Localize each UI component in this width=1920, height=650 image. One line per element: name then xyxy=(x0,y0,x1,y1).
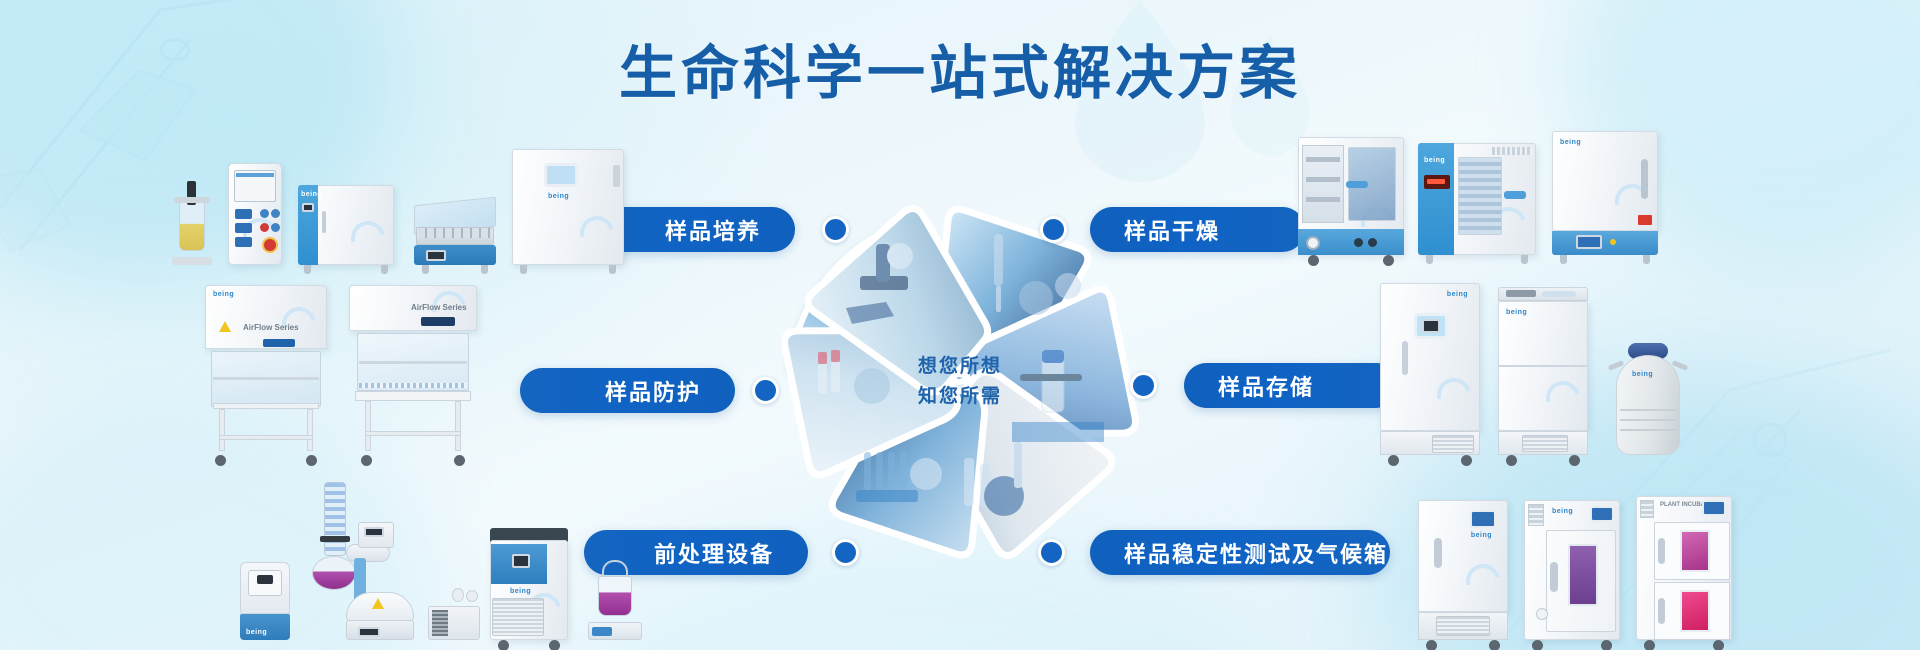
brand-logo: being xyxy=(1632,371,1653,378)
series-label: AirFlow Series xyxy=(411,303,467,312)
equipment-group-pretreatment: being being xyxy=(240,500,646,640)
ultra-low-freezer: being xyxy=(1380,283,1480,455)
brand-logo: being xyxy=(1424,157,1445,164)
category-pill-label: 样品存储 xyxy=(1218,370,1314,402)
orbital-shaker xyxy=(412,203,498,265)
equipment-group-drying: being being xyxy=(1298,125,1658,255)
equipment-group-protection: being AirFlow Series AirFlow Series xyxy=(205,275,477,455)
brand-logo: being xyxy=(213,291,234,298)
page-title: 生命科学一站式解决方案 xyxy=(0,38,1920,110)
centrifuge: being xyxy=(240,562,290,640)
lab-refrigerator: being xyxy=(1498,287,1588,455)
bioreactor-controller xyxy=(228,163,282,265)
category-pill-label: 样品干燥 xyxy=(1124,214,1220,246)
connector-dot-sample-protection[interactable] xyxy=(752,377,779,404)
category-pill-sample-protection[interactable]: 样品防护 xyxy=(520,368,735,413)
equipment-group-storage: being being being xyxy=(1380,280,1686,455)
category-pill-label: 样品培养 xyxy=(665,214,761,246)
category-pill-sample-drying[interactable]: 样品干燥 xyxy=(1090,207,1305,252)
equipment-group-cultivation: being being xyxy=(170,140,624,265)
forced-air-oven: being xyxy=(1418,143,1536,255)
brand-logo: being xyxy=(510,588,531,595)
category-pill-label: 前处理设备 xyxy=(654,537,774,569)
magnetic-stirrer xyxy=(584,566,646,640)
brand-logo: being xyxy=(301,191,322,198)
equipment-group-stability: being being PLANT INCUBATOR xyxy=(1418,495,1732,640)
connector-dot-sample-drying[interactable] xyxy=(1040,216,1067,243)
plant-incubator: PLANT INCUBATOR xyxy=(1636,496,1732,640)
center-slogan-line2: 知您所需 xyxy=(918,382,1002,412)
rotary-evaporator xyxy=(302,500,418,640)
brand-logo: being xyxy=(1560,139,1581,146)
category-pill-sample-storage[interactable]: 样品存储 xyxy=(1184,363,1399,408)
biosafety-cabinet-a: being AirFlow Series xyxy=(205,285,327,455)
brand-logo: being xyxy=(548,193,569,200)
brand-logo: being xyxy=(1506,309,1527,316)
co2-incubator-large: being xyxy=(512,149,624,265)
liquid-nitrogen-tank: being xyxy=(1610,343,1686,455)
brand-logo: being xyxy=(1447,291,1468,298)
category-pill-stability-climate[interactable]: 样品稳定性测试及气候箱 xyxy=(1090,530,1390,575)
stability-chamber: being xyxy=(1418,500,1508,640)
co2-incubator-small: being xyxy=(298,185,394,265)
biosafety-cabinet-b: AirFlow Series xyxy=(349,285,477,455)
series-label: AirFlow Series xyxy=(243,323,299,332)
vacuum-pump xyxy=(428,588,480,640)
center-slogan-line1: 想您所想 xyxy=(918,352,1002,382)
connector-dot-sample-storage[interactable] xyxy=(1130,372,1157,399)
bioreactor-vessel xyxy=(170,179,214,265)
brand-logo: being xyxy=(1471,532,1492,539)
category-pill-label: 样品稳定性测试及气候箱 xyxy=(1124,537,1388,569)
vacuum-drying-oven xyxy=(1298,137,1404,255)
connector-dot-pretreatment[interactable] xyxy=(832,539,859,566)
recirculating-chiller: being xyxy=(490,528,568,640)
connector-dot-sample-cultivation[interactable] xyxy=(822,216,849,243)
high-temp-oven: being xyxy=(1552,131,1658,255)
climate-chamber: being xyxy=(1524,500,1620,640)
brand-logo: being xyxy=(1552,508,1573,515)
center-slogan: 想您所想 知您所需 xyxy=(768,190,1152,574)
brand-logo: being xyxy=(246,629,267,636)
connector-dot-stability-climate[interactable] xyxy=(1038,539,1065,566)
category-pill-label: 样品防护 xyxy=(605,375,701,407)
